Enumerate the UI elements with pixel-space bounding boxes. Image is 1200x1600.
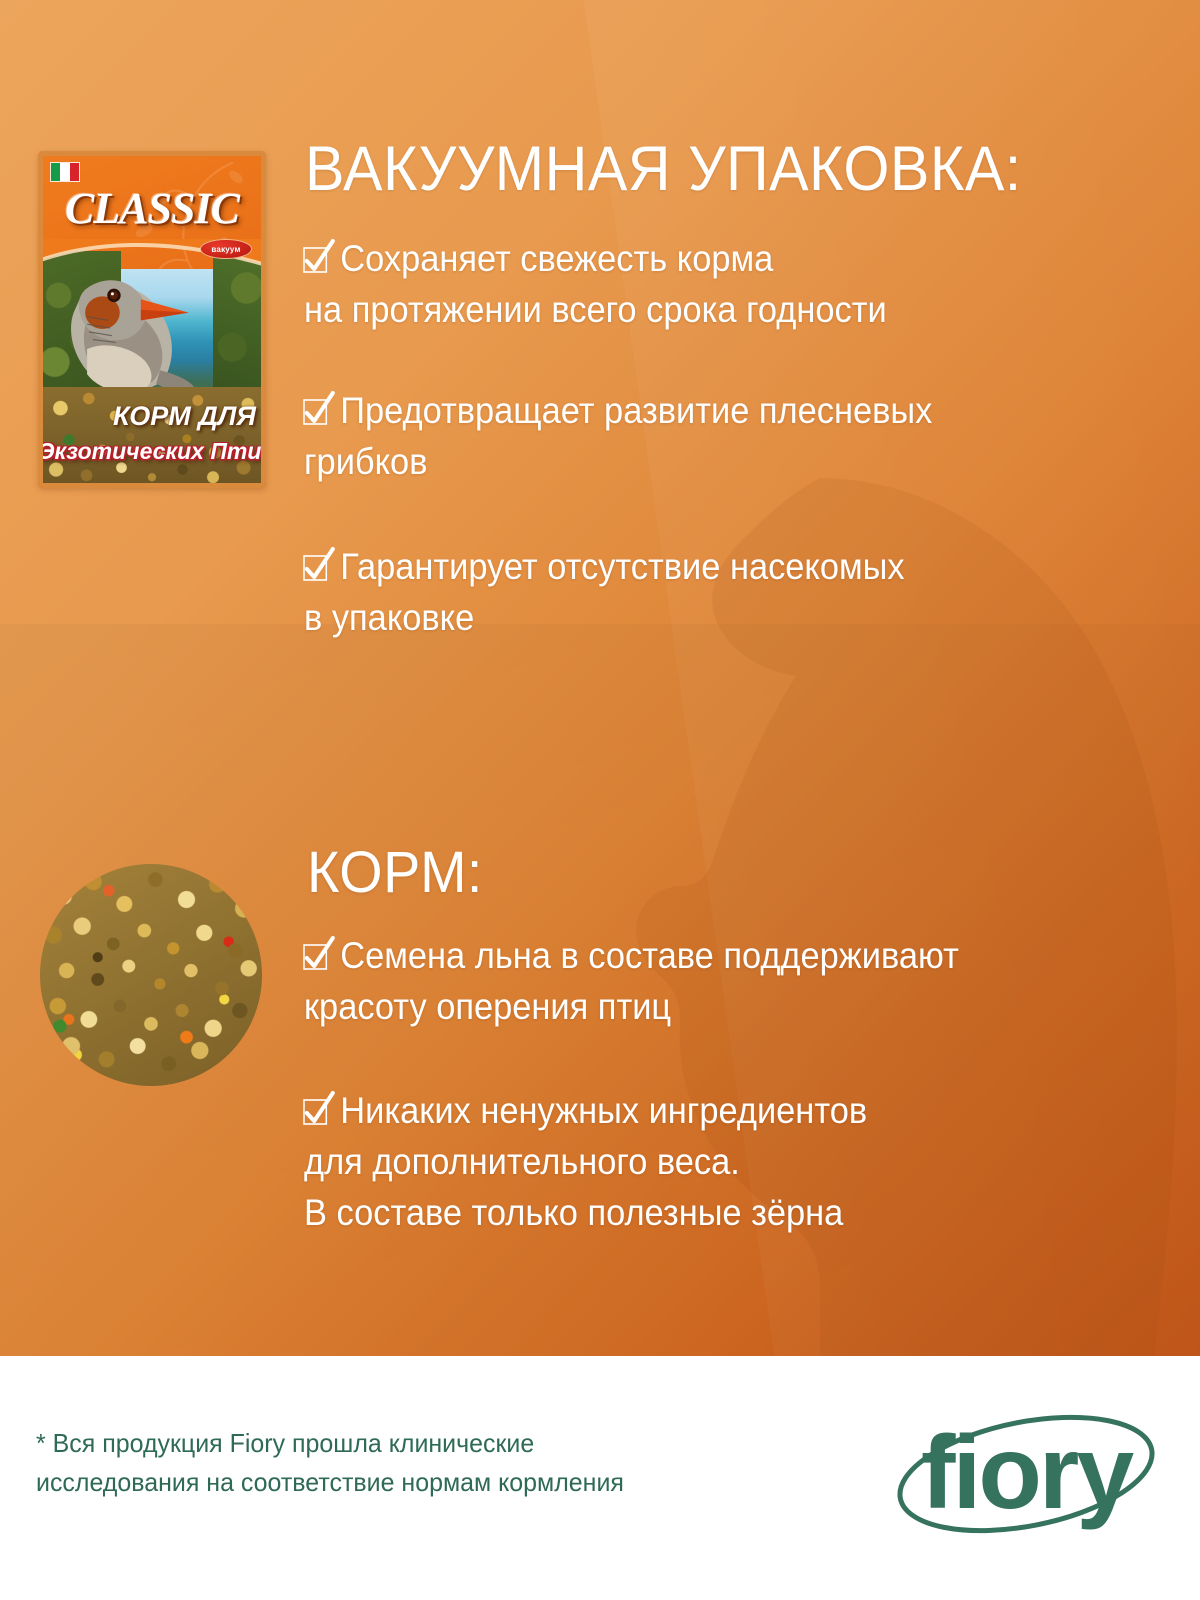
fiory-logo: fiory [888,1398,1164,1550]
italian-flag-icon [50,162,80,182]
food-section-heading: КОРМ: [307,844,483,902]
footer-disclaimer: * Вся продукция Fiory прошла клинические… [36,1424,746,1502]
list-item-line: Предотвращает развитие плесневых [340,390,932,431]
list-item-line: Гарантирует отсутствие насекомых [340,546,904,587]
check-box-icon [304,945,328,971]
svg-text:fiory: fiory [921,1415,1135,1531]
list-item-line: на протяжении всего срока годности [304,284,1085,335]
list-item: Гарантирует отсутствие насекомых в упако… [304,541,1122,643]
list-item-line: для дополнительного веса. [304,1136,1132,1187]
package-foliage-right [213,251,261,399]
footer-disclaimer-line: * Вся продукция Fiory прошла клинические [36,1424,746,1463]
vacuum-badge: вакуум [200,239,252,259]
list-item-line: Никаких ненужных ингредиентов [340,1090,867,1131]
list-item: Сохраняет свежесть корма на протяжении в… [304,233,1085,335]
list-item-line: Семена льна в составе поддерживают [340,935,959,976]
vacuum-badge-label: вакуум [211,245,240,254]
check-box-icon [304,1100,328,1126]
promo-poster: ВАКУУМНАЯ УПАКОВКА: Сохраняет свежесть к… [0,0,1200,1600]
check-box-icon [304,556,328,582]
list-item: Никаких ненужных ингредиентов для дополн… [304,1085,1132,1238]
check-box-icon [304,400,328,426]
footer-disclaimer-line: исследования на соответствие нормам корм… [36,1463,746,1502]
check-box-icon [304,248,328,274]
zebra-finch-icon [47,257,204,399]
package-title-line1: КОРМ ДЛЯ [113,401,256,432]
list-item-line: в упаковке [304,592,1122,643]
package-bird-photo [43,251,261,399]
list-item-line: В составе только полезные зёрна [304,1187,1132,1238]
seed-mix-photo [40,864,262,1086]
package-title-line2: Экзотических Птиц [38,438,266,465]
list-item-line: Сохраняет свежесть корма [340,238,773,279]
list-item: Предотвращает развитие плесневых грибков [304,385,1122,487]
orange-background-panel: ВАКУУМНАЯ УПАКОВКА: Сохраняет свежесть к… [0,0,1200,1356]
package-brand-name: CLASSIC [38,183,266,234]
list-item: Семена льна в составе поддерживают красо… [304,930,1132,1032]
product-package-photo: CLASSIC вакуум [38,151,266,488]
list-item-line: грибков [304,436,1122,487]
vacuum-section-heading: ВАКУУМНАЯ УПАКОВКА: [305,138,1022,201]
list-item-line: красоту оперения птиц [304,981,1132,1032]
